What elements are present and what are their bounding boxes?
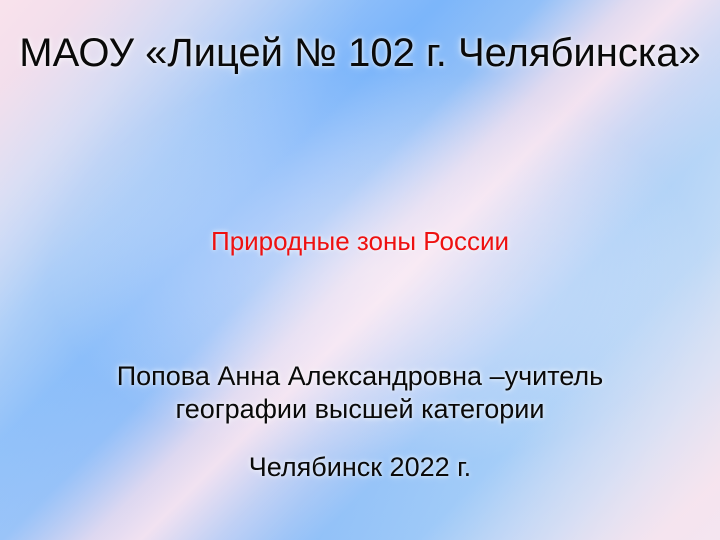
slide-author: Попова Анна Александровна –учитель геогр… [52, 360, 668, 426]
slide-subtitle: Природные зоны России [0, 225, 720, 257]
presentation-slide: МАОУ «Лицей № 102 г. Челябинска» Природн… [0, 0, 720, 540]
slide-title: МАОУ «Лицей № 102 г. Челябинска» [0, 28, 720, 78]
slide-place-and-year: Челябинск 2022 г. [0, 450, 720, 484]
slide-content: МАОУ «Лицей № 102 г. Челябинска» Природн… [0, 0, 720, 540]
